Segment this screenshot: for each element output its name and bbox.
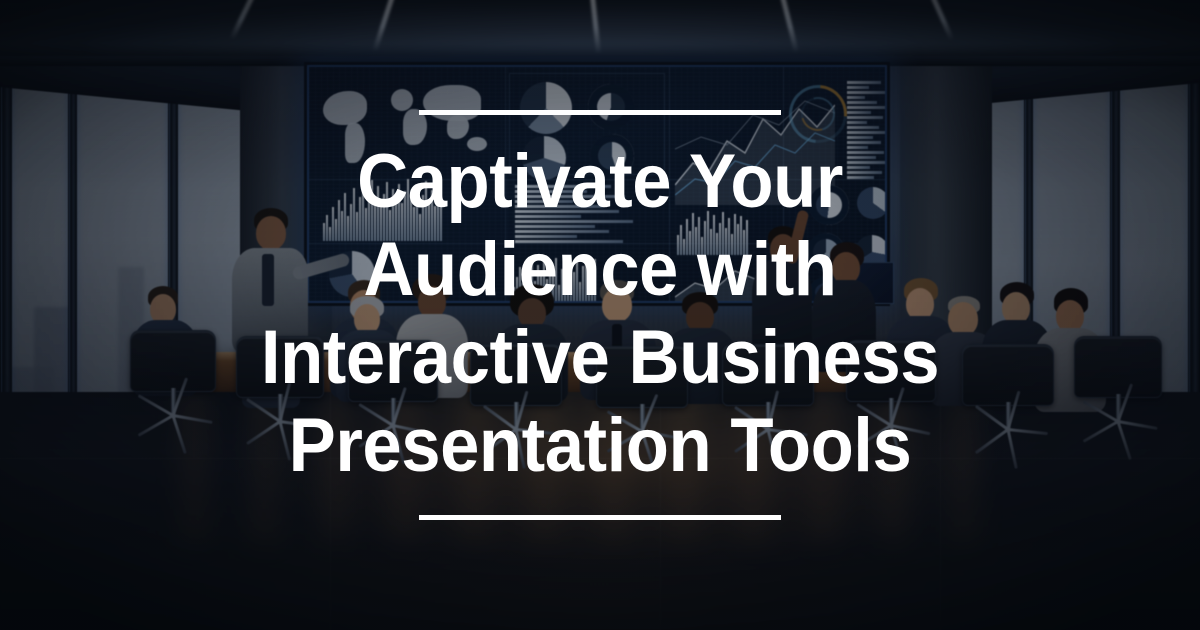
headline-line-4: Presentation Tools bbox=[135, 402, 1065, 490]
headline-line-2: Audience with bbox=[135, 226, 1065, 314]
page-title: Captivate Your Audience with Interactive… bbox=[135, 138, 1065, 490]
divider-bottom bbox=[419, 515, 781, 520]
divider-top bbox=[419, 110, 781, 115]
headline-line-1: Captivate Your bbox=[135, 138, 1065, 226]
headline-overlay: Captivate Your Audience with Interactive… bbox=[0, 0, 1200, 630]
headline-line-3: Interactive Business bbox=[135, 314, 1065, 402]
banner-image: Captivate Your Audience with Interactive… bbox=[0, 0, 1200, 630]
